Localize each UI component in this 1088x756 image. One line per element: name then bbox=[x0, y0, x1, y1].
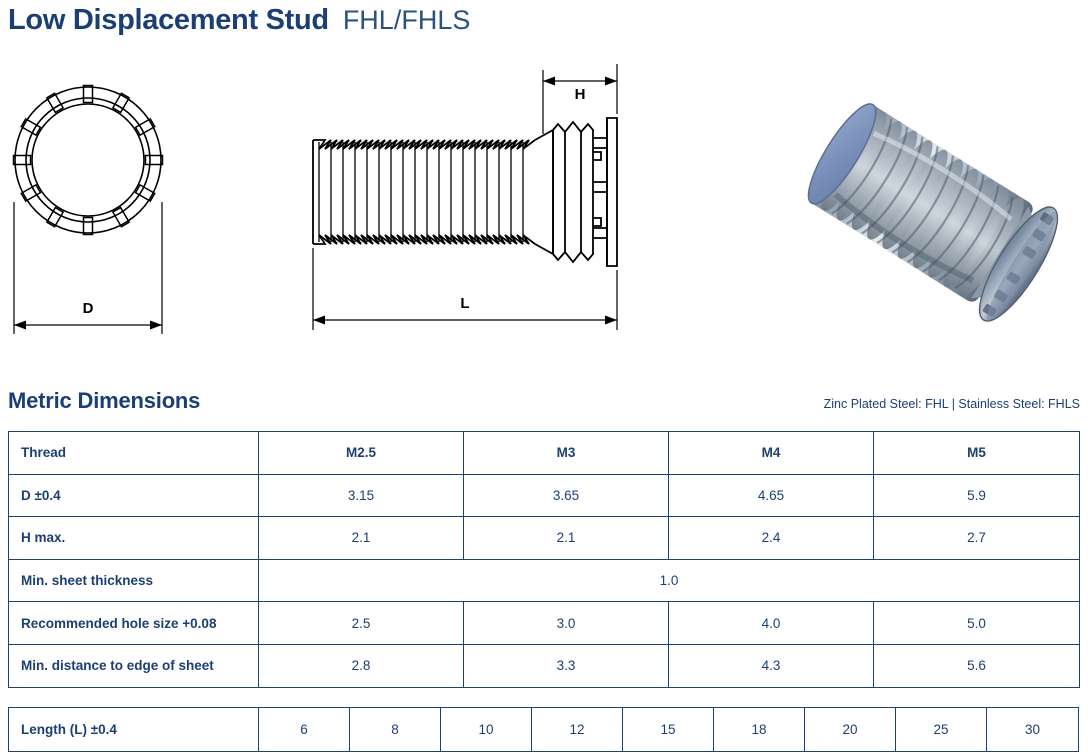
cell-d-m5: 5.9 bbox=[874, 474, 1080, 517]
cell-length-18: 18 bbox=[714, 708, 805, 752]
header-m5: M5 bbox=[874, 432, 1080, 475]
cell-length-20: 20 bbox=[805, 708, 896, 752]
front-view-figure: D bbox=[0, 52, 190, 352]
cell-d-m4: 4.65 bbox=[669, 474, 874, 517]
cell-length-25: 25 bbox=[896, 708, 987, 752]
table-row: Recommended hole size +0.08 2.5 3.0 4.0 … bbox=[9, 602, 1080, 645]
table-header-row: Thread M2.5 M3 M4 M5 bbox=[9, 432, 1080, 475]
cell-edge-m5: 5.6 bbox=[874, 644, 1080, 687]
cell-length-15: 15 bbox=[623, 708, 714, 752]
cell-d-m3: 3.65 bbox=[464, 474, 669, 517]
table-row: Length (L) ±0.4 6 8 10 12 15 18 20 25 30 bbox=[9, 708, 1079, 752]
page-title-part-code: FHL/FHLS bbox=[343, 5, 471, 36]
cell-length-12: 12 bbox=[532, 708, 623, 752]
cell-length-10: 10 bbox=[441, 708, 532, 752]
table-row: Min. sheet thickness 1.0 bbox=[9, 559, 1080, 602]
header-m3: M3 bbox=[464, 432, 669, 475]
length-table: Length (L) ±0.4 6 8 10 12 15 18 20 25 30 bbox=[8, 707, 1079, 752]
cell-length-30: 30 bbox=[987, 708, 1079, 752]
cell-hole-m5: 5.0 bbox=[874, 602, 1080, 645]
cell-edge-m25: 2.8 bbox=[259, 644, 464, 687]
cell-edge-m3: 3.3 bbox=[464, 644, 669, 687]
3d-stud-render bbox=[782, 60, 1082, 360]
row-label-length: Length (L) ±0.4 bbox=[9, 708, 259, 752]
cell-h-m25: 2.1 bbox=[259, 517, 464, 560]
cell-hole-m3: 3.0 bbox=[464, 602, 669, 645]
page-title: Low Displacement Stud FHL/FHLS bbox=[8, 4, 470, 37]
material-note: Zinc Plated Steel: FHL | Stainless Steel… bbox=[824, 397, 1080, 414]
cell-edge-m4: 4.3 bbox=[669, 644, 874, 687]
cell-h-m3: 2.1 bbox=[464, 517, 669, 560]
cell-hole-m4: 4.0 bbox=[669, 602, 874, 645]
technical-drawings: D bbox=[0, 52, 1088, 372]
cell-length-8: 8 bbox=[350, 708, 441, 752]
dimension-label-d: D bbox=[78, 300, 98, 317]
cell-h-m5: 2.7 bbox=[874, 517, 1080, 560]
table-row: D ±0.4 3.15 3.65 4.65 5.9 bbox=[9, 474, 1080, 517]
cell-hole-m25: 2.5 bbox=[259, 602, 464, 645]
row-label-d: D ±0.4 bbox=[9, 474, 259, 517]
header-thread: Thread bbox=[9, 432, 259, 475]
dimension-label-l: L bbox=[455, 295, 475, 312]
datasheet-page: Low Displacement Stud FHL/FHLS bbox=[0, 0, 1088, 756]
3d-stud-render-svg bbox=[782, 60, 1082, 360]
row-label-min-sheet-thickness: Min. sheet thickness bbox=[9, 559, 259, 602]
header-m4: M4 bbox=[669, 432, 874, 475]
section-header: Metric Dimensions Zinc Plated Steel: FHL… bbox=[8, 388, 1080, 414]
section-title: Metric Dimensions bbox=[8, 388, 200, 414]
cell-length-6: 6 bbox=[259, 708, 350, 752]
table-row: Min. distance to edge of sheet 2.8 3.3 4… bbox=[9, 644, 1080, 687]
row-label-edge-distance: Min. distance to edge of sheet bbox=[9, 644, 259, 687]
cell-min-sheet-thickness: 1.0 bbox=[259, 559, 1080, 602]
cell-d-m25: 3.15 bbox=[259, 474, 464, 517]
metric-dimensions-table: Thread M2.5 M3 M4 M5 D ±0.4 3.15 3.65 4.… bbox=[8, 431, 1080, 688]
row-label-hole-size: Recommended hole size +0.08 bbox=[9, 602, 259, 645]
header-m25: M2.5 bbox=[259, 432, 464, 475]
row-label-h: H max. bbox=[9, 517, 259, 560]
side-view-figure: H L bbox=[295, 52, 630, 352]
table-row: H max. 2.1 2.1 2.4 2.7 bbox=[9, 517, 1080, 560]
page-title-main: Low Displacement Stud bbox=[8, 4, 329, 37]
dimension-label-h: H bbox=[570, 86, 590, 103]
cell-h-m4: 2.4 bbox=[669, 517, 874, 560]
